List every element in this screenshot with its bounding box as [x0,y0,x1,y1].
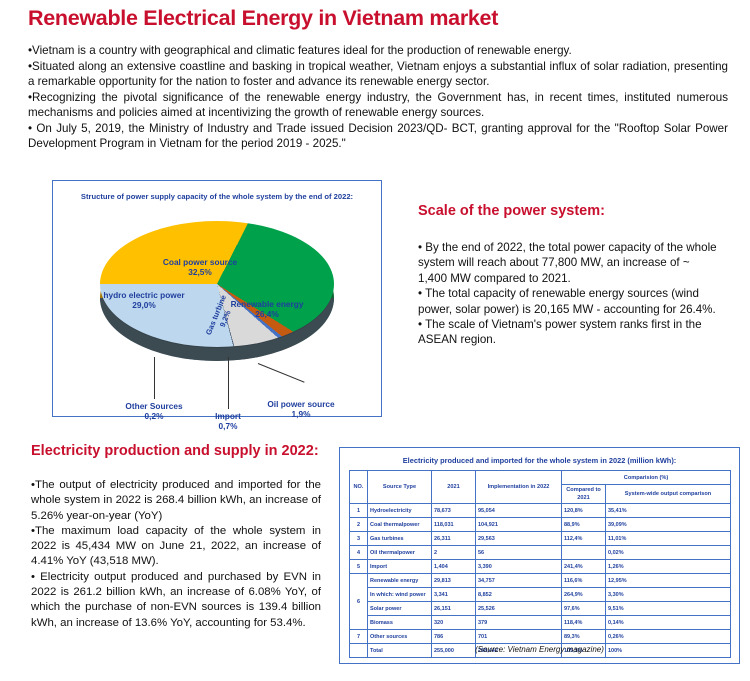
table-row: 5 Import 1,404 3,390 241,4% 1,26% [350,560,731,574]
cell-compared: 112,4% [562,532,606,546]
table-row: 2 Coal thermalpower 118,031 104,921 88,9… [350,518,731,532]
chart-title: Structure of power supply capacity of th… [65,192,370,201]
table-row: Solar power 26,151 25,526 97,6% 9,51% [350,602,731,616]
intro-bullet: • On July 5, 2019, the Ministry of Indus… [28,121,728,151]
pie-slice-name-hydro: hydro electric power [103,290,184,300]
page-title: Renewable Electrical Energy in Vietnam m… [28,6,498,31]
table-title: Electricity produced and imported for th… [340,456,739,465]
pie-chart: Coal power source 32,5% hydro electric p… [92,207,342,387]
table-header-comparison-group: Comparision (%) [562,471,731,485]
table-row: In which: wind power 3,341 8,852 264,9% … [350,588,731,602]
cell-impl-2022: 95,054 [476,504,562,518]
cell-2021: 3,341 [432,588,476,602]
cell-2021: 786 [432,630,476,644]
cell-no: 7 [350,630,368,644]
production-bullet: •The maximum load capacity of the whole … [31,524,321,570]
table-header-source-type: Source Type [368,471,432,504]
cell-impl-2022: 701 [476,630,562,644]
cell-system-wide: 12,95% [606,574,731,588]
cell-source-type: Biomass [368,616,432,630]
cell-no: 6 [350,574,368,630]
intro-bullet: •Situated along an extensive coastline a… [28,59,728,89]
table-header-system-wide: System-wide output comparison [606,485,731,504]
pie-callout-import: Import 0,7% [215,411,241,431]
table-row: 1 Hydroelectricity 78,673 95,054 120,8% … [350,504,731,518]
cell-2021: 29,813 [432,574,476,588]
cell-2021: 26,311 [432,532,476,546]
cell-system-wide: 0,26% [606,630,731,644]
cell-system-wide: 0,14% [606,616,731,630]
cell-source-type: Renewable energy [368,574,432,588]
cell-system-wide: 3,30% [606,588,731,602]
cell-system-wide: 35,41% [606,504,731,518]
cell-compared: 264,9% [562,588,606,602]
intro-bullet-list: •Vietnam is a country with geographical … [28,43,728,151]
cell-no: 5 [350,560,368,574]
cell-impl-2022: 379 [476,616,562,630]
cell-impl-2022: 29,563 [476,532,562,546]
pie-slice-value-oil: 1,9% [292,409,311,419]
scale-section-bullets: • By the end of 2022, the total power ca… [418,240,718,348]
cell-no: 1 [350,504,368,518]
cell-system-wide: 9,51% [606,602,731,616]
cell-no: 2 [350,518,368,532]
electricity-production-table: NO. Source Type 2021 Implementation in 2… [349,470,731,658]
cell-compared: 97,6% [562,602,606,616]
cell-source-type: Other sources [368,630,432,644]
cell-compared: 89,3% [562,630,606,644]
scale-bullet: • By the end of 2022, the total power ca… [418,240,718,286]
scale-bullet: • The scale of Vietnam's power system ra… [418,317,718,348]
cell-2021: 320 [432,616,476,630]
table-row: 3 Gas turbines 26,311 29,563 112,4% 11,0… [350,532,731,546]
cell-no: 4 [350,546,368,560]
table-header-row-1: NO. Source Type 2021 Implementation in 2… [350,471,731,485]
pie-slice-value-renewable: 26,4% [255,309,279,319]
table-header-2021: 2021 [432,471,476,504]
cell-impl-2022: 8,852 [476,588,562,602]
production-bullet: •The output of electricity produced and … [31,478,321,524]
cell-2021: 2 [432,546,476,560]
cell-system-wide: 39,09% [606,518,731,532]
table-row: 4 Oil thermalpower 2 56 0,02% [350,546,731,560]
cell-2021: 26,151 [432,602,476,616]
pie-slice-label-coal: Coal power source 32,5% [163,257,237,277]
cell-source-type: Oil thermalpower [368,546,432,560]
table-row: Biomass 320 379 118,4% 0,14% [350,616,731,630]
pie-slice-name-oil: Oil power source [267,399,334,409]
leader-line-import [228,357,229,409]
production-section-bullets: •The output of electricity produced and … [31,478,321,631]
cell-source-type: Gas turbines [368,532,432,546]
pie-slice-value-import: 0,7% [219,421,238,431]
cell-source-type: In which: wind power [368,588,432,602]
pie-callout-oil-power: Oil power source 1,9% [267,399,334,419]
table-row: 7 Other sources 786 701 89,3% 0,26% [350,630,731,644]
cell-compared [562,546,606,560]
cell-impl-2022: 3,390 [476,560,562,574]
cell-compared: 88,9% [562,518,606,532]
leader-line-other-sources [154,357,155,399]
table-row: 6 Renewable energy 29,813 34,757 116,6% … [350,574,731,588]
cell-compared: 120,8% [562,504,606,518]
pie-slice-value-hydro: 29,0% [132,300,156,310]
table-header-compared-to-2021: Compared to 2021 [562,485,606,504]
production-section-heading: Electricity production and supply in 202… [31,443,319,459]
leader-line-oil [258,363,305,383]
scale-section-heading: Scale of the power system: [418,203,605,219]
cell-system-wide: 0,02% [606,546,731,560]
cell-compared: 118,4% [562,616,606,630]
pie-slice-label-renewable: Renewable energy 26,4% [231,299,304,319]
production-bullet: • Electricity output produced and purcha… [31,570,321,631]
cell-source-type: Coal thermalpower [368,518,432,532]
cell-compared: 116,6% [562,574,606,588]
pie-callout-other-sources: Other Sources 0,2% [125,401,182,421]
table-header-implementation: Implementation in 2022 [476,471,562,504]
cell-source-type: Import [368,560,432,574]
table-header-no: NO. [350,471,368,504]
table-source-note: (Source: Vietnam Energy magazine) [340,645,739,654]
cell-compared: 241,4% [562,560,606,574]
cell-2021: 78,673 [432,504,476,518]
pie-slice-name-other-sources: Other Sources [125,401,182,411]
cell-source-type: Hydroelectricity [368,504,432,518]
scale-bullet: • The total capacity of renewable energy… [418,286,718,317]
intro-bullet: •Recognizing the pivotal significance of… [28,90,728,120]
pie-slice-value-coal: 32,5% [188,267,212,277]
power-capacity-pie-chart-panel: Structure of power supply capacity of th… [52,180,382,417]
intro-bullet: •Vietnam is a country with geographical … [28,43,728,58]
cell-2021: 1,404 [432,560,476,574]
pie-slice-name-coal: Coal power source [163,257,237,267]
cell-system-wide: 1,26% [606,560,731,574]
pie-slice-name-import: Import [215,411,241,421]
cell-impl-2022: 34,757 [476,574,562,588]
pie-slice-label-hydro: hydro electric power 29,0% [103,290,184,310]
cell-impl-2022: 56 [476,546,562,560]
cell-impl-2022: 25,526 [476,602,562,616]
cell-source-type: Solar power [368,602,432,616]
cell-no: 3 [350,532,368,546]
cell-2021: 118,031 [432,518,476,532]
pie-slice-value-other-sources: 0,2% [145,411,164,421]
pie-slice-name-renewable: Renewable energy [231,299,304,309]
cell-impl-2022: 104,921 [476,518,562,532]
electricity-table-panel: Electricity produced and imported for th… [339,447,740,664]
cell-system-wide: 11,01% [606,532,731,546]
